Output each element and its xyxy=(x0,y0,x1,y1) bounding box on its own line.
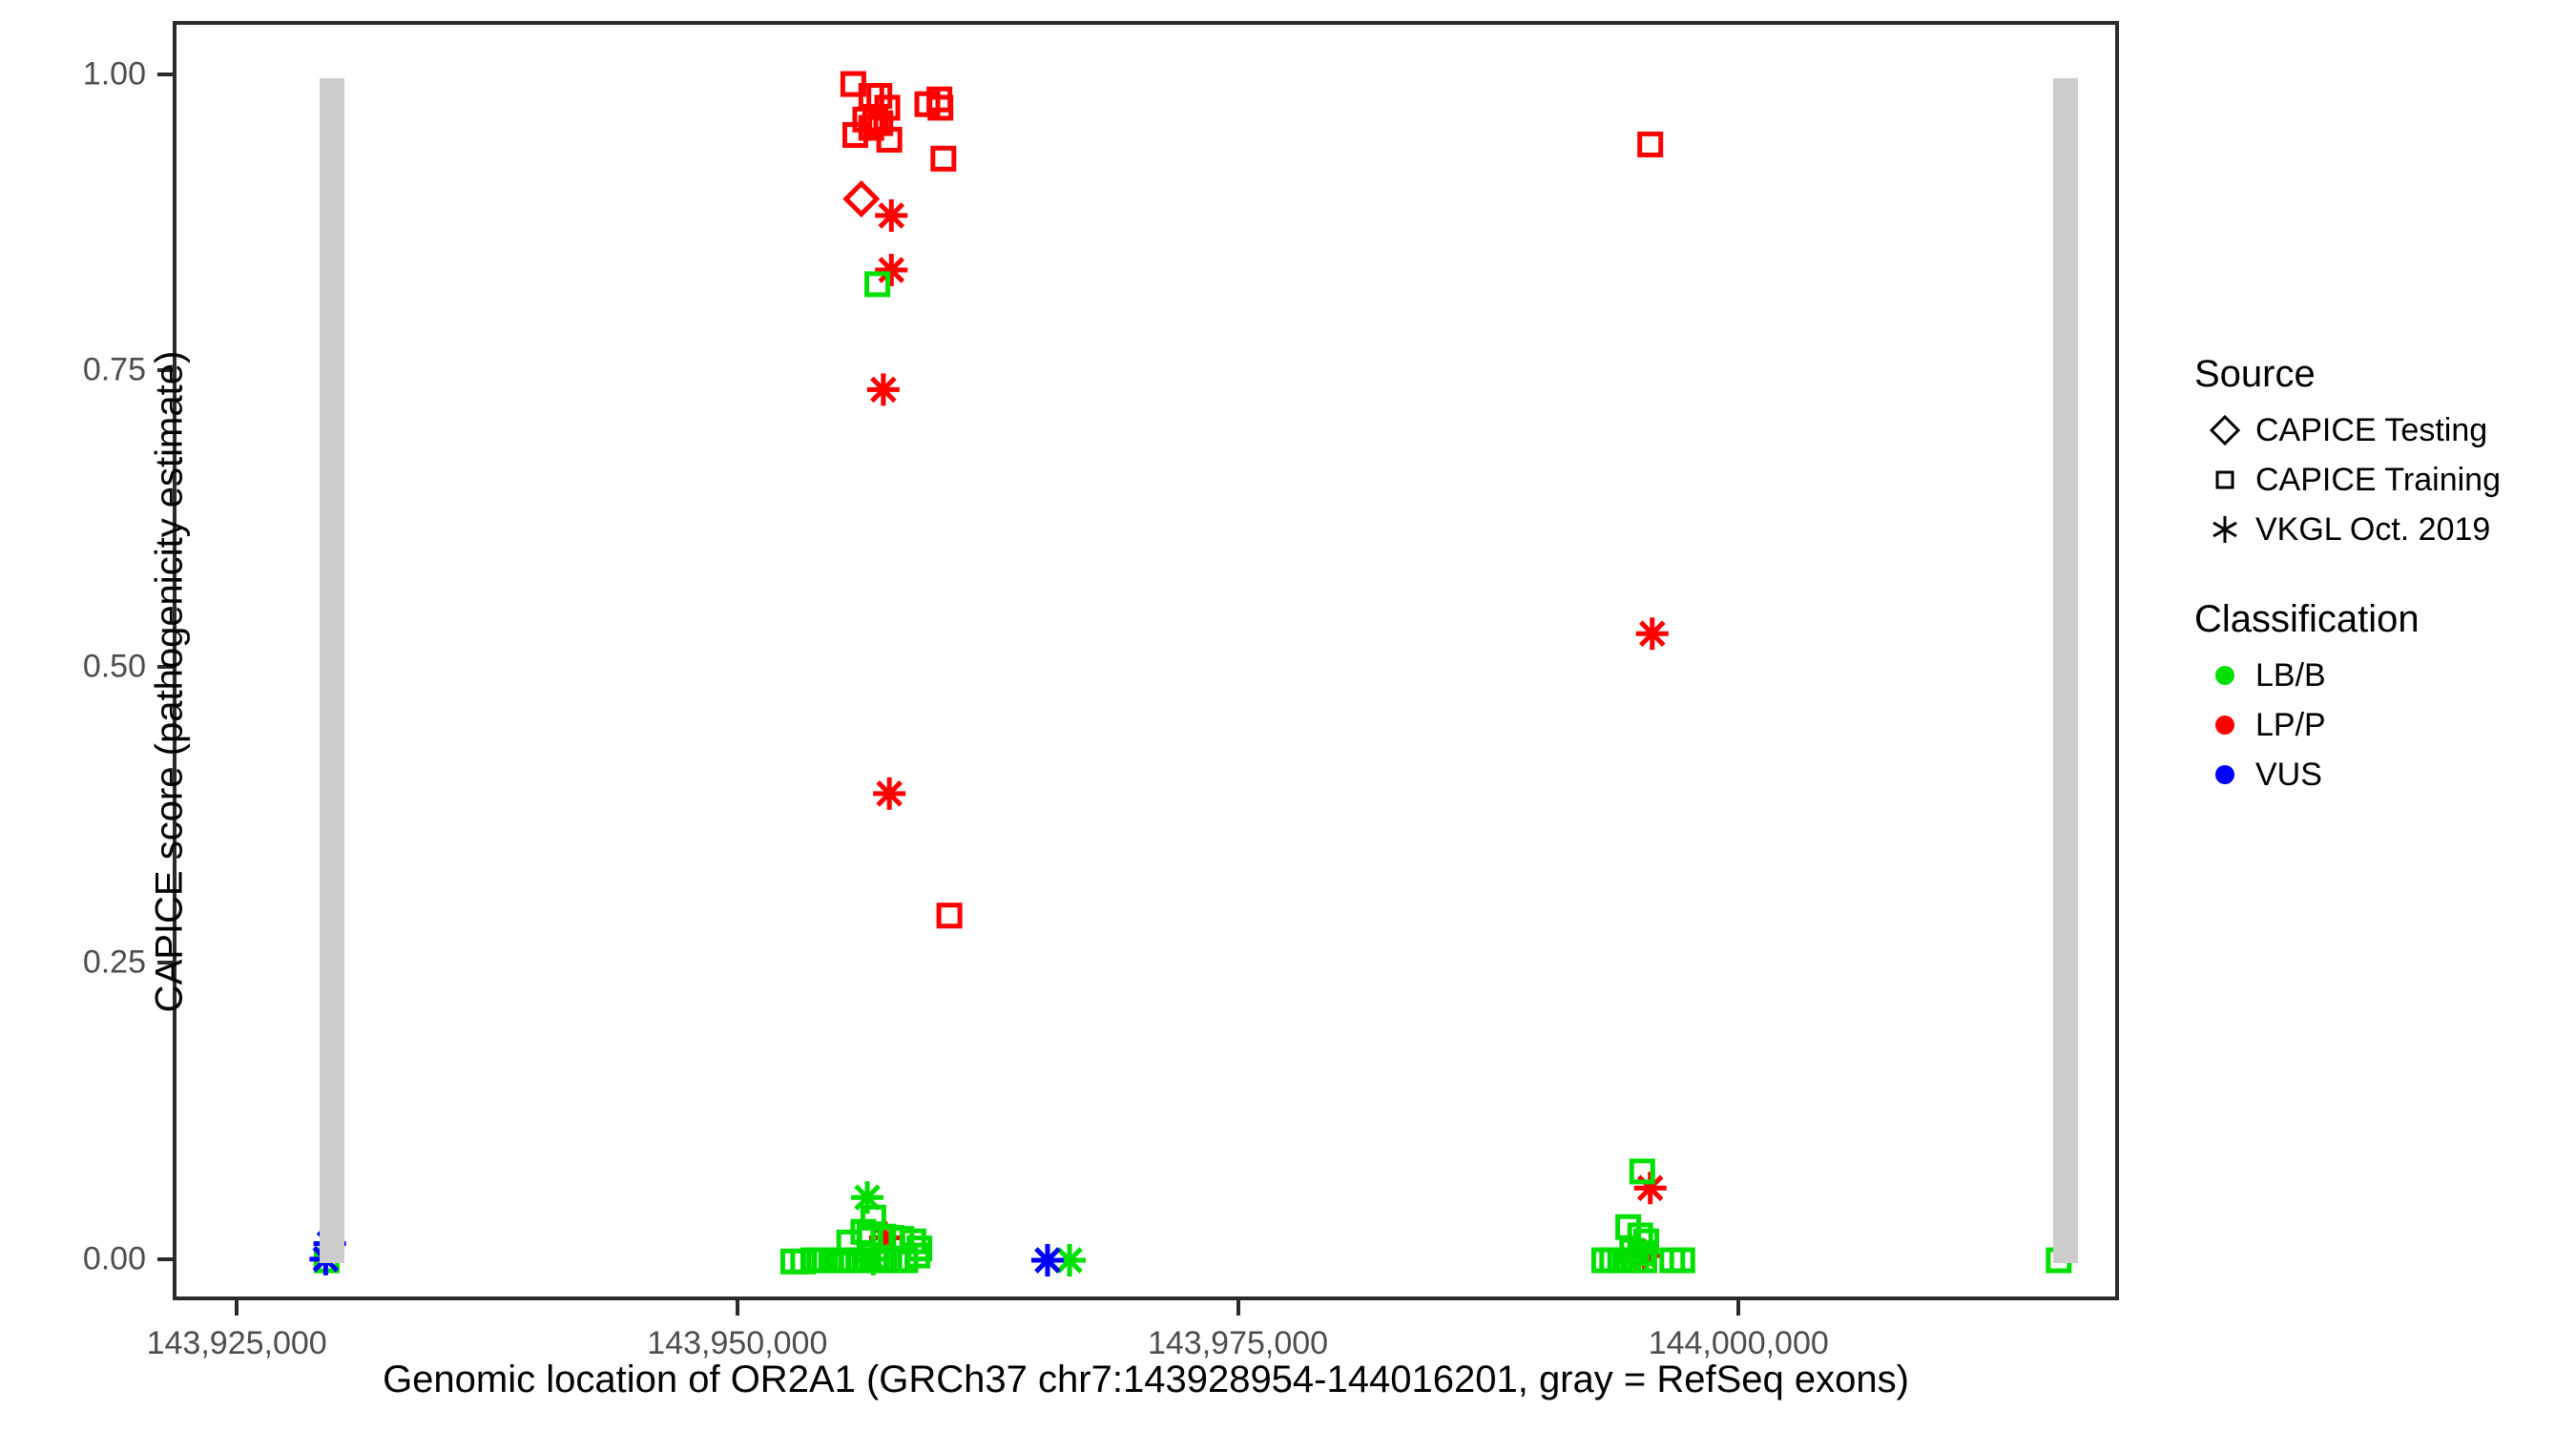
plot-panel xyxy=(173,21,2119,1300)
legend-item-capice-testing[interactable]: CAPICE Testing xyxy=(2194,405,2557,455)
x-tick-label: 144,000,000 xyxy=(1649,1325,1829,1362)
diamond-outline-icon xyxy=(2194,414,2255,446)
series-diamond xyxy=(846,184,877,215)
data-point xyxy=(851,1181,883,1213)
y-tick-label: 0.50 xyxy=(0,648,146,685)
legend-item-vkgl[interactable]: VKGL Oct. 2019 xyxy=(2194,505,2557,554)
y-tick-label: 0.00 xyxy=(0,1240,146,1277)
legend-label: CAPICE Testing xyxy=(2255,412,2487,449)
x-tick-label: 143,975,000 xyxy=(1148,1325,1328,1362)
legend-item-lpp[interactable]: LP/P xyxy=(2194,700,2557,750)
legend-label: LB/B xyxy=(2255,657,2326,695)
y-axis-title: CAPICE score (pathogenicity estimate) xyxy=(149,205,192,1159)
data-point xyxy=(867,373,900,405)
legend-item-lbb[interactable]: LB/B xyxy=(2194,651,2557,700)
square-outline-icon xyxy=(2194,464,2255,496)
x-tick-mark xyxy=(235,1300,239,1316)
data-point xyxy=(846,184,877,215)
x-tick-label: 143,950,000 xyxy=(647,1325,827,1362)
legend-label: LP/P xyxy=(2255,707,2326,744)
filled-circle-icon xyxy=(2194,709,2255,741)
data-point xyxy=(1634,1172,1667,1204)
legend-label: CAPICE Training xyxy=(2255,462,2501,499)
y-tick-label: 0.75 xyxy=(0,352,146,389)
exon-band xyxy=(320,78,344,1263)
asterisk-icon xyxy=(2194,513,2255,546)
x-tick-mark xyxy=(1236,1300,1240,1316)
y-tick-label: 1.00 xyxy=(0,55,146,93)
filled-circle-icon xyxy=(2194,659,2255,692)
y-tick-mark xyxy=(157,73,173,76)
data-point xyxy=(875,199,907,232)
legend-title-classification: Classification xyxy=(2194,598,2557,641)
data-point xyxy=(1636,617,1669,650)
data-point xyxy=(875,254,907,286)
x-tick-label: 143,925,000 xyxy=(147,1325,327,1362)
exon-band xyxy=(2053,78,2078,1263)
legend-spacer xyxy=(2194,554,2557,598)
legend-item-vus[interactable]: VUS xyxy=(2194,750,2557,799)
legend-label: VUS xyxy=(2255,757,2322,794)
y-tick-mark xyxy=(157,1257,173,1261)
legend-label: VKGL Oct. 2019 xyxy=(2255,511,2490,549)
series-square xyxy=(842,73,1660,926)
legend-title-source: Source xyxy=(2194,353,2557,396)
plot-area xyxy=(177,25,2115,1296)
data-point xyxy=(939,905,960,926)
data-point xyxy=(933,148,954,169)
legend-item-capice-training[interactable]: CAPICE Training xyxy=(2194,455,2557,505)
data-point xyxy=(857,1243,889,1275)
x-tick-mark xyxy=(736,1300,739,1316)
legend: Source CAPICE Testing CAPICE Training VK… xyxy=(2194,353,2557,799)
filled-circle-icon xyxy=(2194,758,2255,791)
x-axis-title: Genomic location of OR2A1 (GRCh37 chr7:1… xyxy=(173,1358,2119,1401)
data-point xyxy=(1640,134,1661,155)
scatter-marks xyxy=(177,25,2115,1296)
series-asterisk xyxy=(309,1228,1064,1276)
data-point xyxy=(1031,1244,1064,1276)
data-point xyxy=(873,778,905,810)
y-tick-label: 0.25 xyxy=(0,944,146,982)
series-square xyxy=(316,274,2068,1272)
x-tick-mark xyxy=(1736,1300,1740,1316)
series-asterisk xyxy=(867,199,1669,1272)
